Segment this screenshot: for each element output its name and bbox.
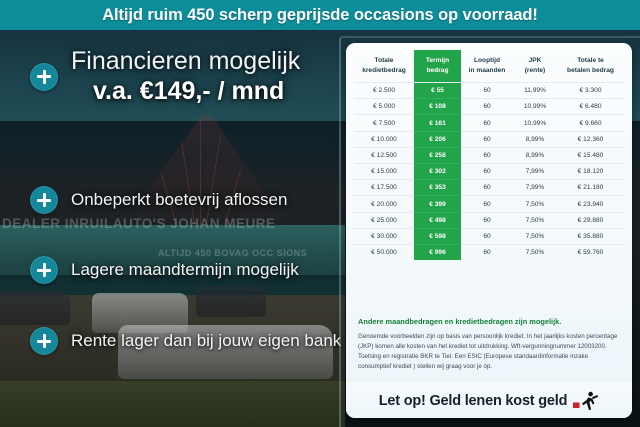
table-cell: € 10.000 [354,131,414,147]
table-cell: 7,99% [513,180,557,196]
table-cell: € 59.760 [557,244,624,260]
table-cell: € 598 [414,228,461,244]
table-cell: 8,99% [513,131,557,147]
feature-item-label: Lagere maandtermijn mogelijk [71,260,299,280]
table-cell: € 3.300 [557,83,624,99]
table-cell: € 7.500 [354,115,414,131]
credit-disclaimer-note: Andere maandbedragen en kredietbedragen … [358,317,620,372]
column-header-total-credit: Totale kredietbedrag [354,50,414,83]
table-cell: € 15.000 [354,164,414,180]
table-cell: € 50.000 [354,244,414,260]
disclaimer-body: Genoemde voorbeelden zijn op basis van p… [358,332,620,372]
table-cell: 60 [461,99,513,115]
table-cell: 7,50% [513,212,557,228]
feature-hero-texts: Financieren mogelijk v.a. €149,- / mnd [71,48,300,106]
table-cell: € 9.660 [557,115,624,131]
feature-hero-line-1: Financieren mogelijk [71,48,300,75]
table-row: € 15.000€ 302607,99%€ 18.120 [354,164,624,180]
table-cell: € 30.000 [354,228,414,244]
table-cell: € 5.000 [354,99,414,115]
credit-rate-table-head: Totale kredietbedrag Termijn bedrag Loop… [354,50,624,83]
feature-item-lower-interest: Rente lager dan bij jouw eigen bank [30,327,341,355]
table-cell: € 399 [414,196,461,212]
feature-item-label: Rente lager dan bij jouw eigen bank [71,331,341,351]
table-cell: € 15.480 [557,147,624,163]
advertisement-screenshot: DEALER INRUILAUTO'S JOHAN MEURE ALTIJD 4… [0,0,640,427]
table-cell: 60 [461,180,513,196]
table-cell: 7,50% [513,228,557,244]
promo-headline-text: Altijd ruim 450 scherp geprijsde occasio… [102,6,538,25]
table-cell: € 206 [414,131,461,147]
table-cell: € 498 [414,212,461,228]
table-cell: € 353 [414,180,461,196]
credit-info-card: Totale kredietbedrag Termijn bedrag Loop… [346,43,632,418]
table-cell: 10,99% [513,115,557,131]
table-cell: 60 [461,147,513,163]
table-cell: € 12.360 [557,131,624,147]
feature-item-penalty-free: Onbeperkt boetevrij aflossen [30,186,287,214]
table-header-row: Totale kredietbedrag Termijn bedrag Loop… [354,50,624,83]
feature-hero-financing: Financieren mogelijk v.a. €149,- / mnd [30,48,300,106]
table-row: € 17.500€ 353607,99%€ 21.180 [354,180,624,196]
plus-icon [30,256,58,284]
table-cell: € 12.500 [354,147,414,163]
table-row: € 20.000€ 399607,50%€ 23.940 [354,196,624,212]
plus-icon [30,327,58,355]
table-row: € 2.500€ 556011,99%€ 3.300 [354,83,624,99]
table-cell: 60 [461,228,513,244]
table-cell: € 29.880 [557,212,624,228]
table-cell: € 20.000 [354,196,414,212]
column-header-total-payable: Totale te betalen bedrag [557,50,624,83]
table-cell: € 996 [414,244,461,260]
table-cell: € 25.000 [354,212,414,228]
table-cell: € 21.180 [557,180,624,196]
credit-rate-table-body: € 2.500€ 556011,99%€ 3.300€ 5.000€ 10860… [354,83,624,261]
table-cell: 60 [461,212,513,228]
table-row: € 25.000€ 498607,50%€ 29.880 [354,212,624,228]
plus-icon [30,186,58,214]
table-row: € 30.000€ 598607,50%€ 35.880 [354,228,624,244]
table-cell: € 2.500 [354,83,414,99]
table-cell: € 302 [414,164,461,180]
feature-hero-line-2: v.a. €149,- / mnd [93,77,300,106]
table-cell: 11,99% [513,83,557,99]
table-cell: 7,50% [513,196,557,212]
table-cell: 7,50% [513,244,557,260]
table-cell: € 17.500 [354,180,414,196]
credit-rate-table: Totale kredietbedrag Termijn bedrag Loop… [354,50,624,260]
table-cell: € 161 [414,115,461,131]
disclaimer-title: Andere maandbedragen en kredietbedragen … [358,317,620,327]
column-header-apr: JPK (rente) [513,50,557,83]
table-cell: 60 [461,83,513,99]
table-cell: 60 [461,164,513,180]
table-cell: € 6.480 [557,99,624,115]
feature-item-label: Onbeperkt boetevrij aflossen [71,190,287,210]
table-cell: 10,99% [513,99,557,115]
plus-icon [30,63,58,91]
table-row: € 10.000€ 206608,99%€ 12.360 [354,131,624,147]
column-header-installment: Termijn bedrag [414,50,461,83]
column-header-duration: Looptijd in maanden [461,50,513,83]
table-cell: € 258 [414,147,461,163]
table-row: € 7.500€ 1616010,99%€ 9.660 [354,115,624,131]
table-row: € 12.500€ 258608,99%€ 15.480 [354,147,624,163]
promo-headline-bar: Altijd ruim 450 scherp geprijsde occasio… [0,0,640,30]
table-cell: 7,99% [513,164,557,180]
table-cell: 60 [461,115,513,131]
table-row: € 50.000€ 996607,50%€ 59.760 [354,244,624,260]
feature-list: Financieren mogelijk v.a. €149,- / mnd O… [0,40,345,420]
feature-item-lower-monthly: Lagere maandtermijn mogelijk [30,256,299,284]
running-man-icon [573,391,599,411]
table-cell: € 55 [414,83,461,99]
table-cell: 60 [461,244,513,260]
table-cell: € 108 [414,99,461,115]
table-cell: € 18.120 [557,164,624,180]
table-cell: € 23.940 [557,196,624,212]
table-cell: 8,99% [513,147,557,163]
credit-warning-bar: Let op! Geld lenen kost geld [346,383,632,418]
table-cell: 60 [461,196,513,212]
table-cell: 60 [461,131,513,147]
credit-warning-text: Let op! Geld lenen kost geld [379,393,568,409]
table-cell: € 35.880 [557,228,624,244]
table-row: € 5.000€ 1086010,99%€ 6.480 [354,99,624,115]
